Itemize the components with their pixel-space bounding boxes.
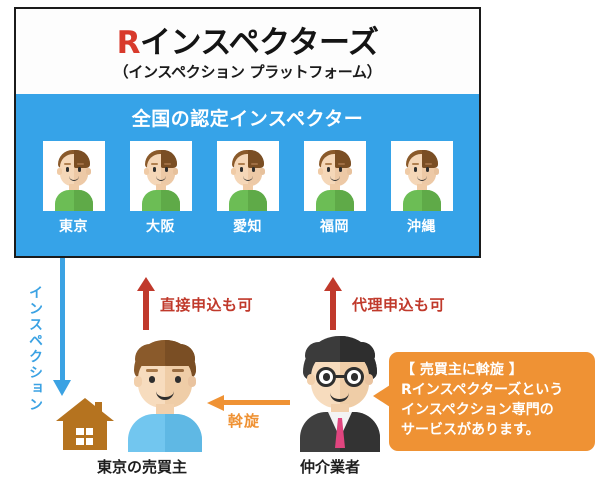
- shirt-shadow: [161, 190, 180, 211]
- inspector-list: 東京: [16, 141, 479, 236]
- shirt-shadow: [422, 190, 441, 211]
- window-mullion-horizontal: [76, 435, 93, 438]
- eye-left-icon: [414, 167, 418, 172]
- shirt-shadow: [165, 414, 202, 452]
- callout-line-3: インスペクション専門の: [401, 401, 585, 421]
- hair-shadow: [248, 150, 264, 168]
- buyer-caption: 東京の売買主: [97, 456, 187, 477]
- direct-apply-arrow-shaft: [143, 290, 149, 330]
- proxy-apply-arrow-shaft: [330, 290, 336, 330]
- eye-right-icon: [252, 167, 256, 172]
- inspector-avatar: [304, 141, 366, 211]
- inspector-label: 福岡: [320, 216, 349, 236]
- ear-left-icon: [318, 168, 323, 175]
- inspector-label: 沖縄: [407, 216, 436, 236]
- eyebrow-right-icon: [251, 163, 258, 165]
- eye-left-icon: [240, 167, 244, 172]
- inspector-avatar: [217, 141, 279, 211]
- inspection-arrow-shaft: [60, 258, 65, 386]
- proxy-apply-arrow-head: [324, 277, 342, 291]
- eyebrow-left-icon: [412, 163, 419, 165]
- brand-subtitle: （インスペクション プラットフォーム）: [16, 61, 479, 82]
- eye-left-icon: [327, 167, 331, 172]
- shirt-shadow: [248, 190, 267, 211]
- eyebrow-right-icon: [425, 163, 432, 165]
- callout-line-4: サービスがあります。: [401, 421, 585, 441]
- agent-caption: 仲介業者: [300, 456, 360, 477]
- callout-tail: [373, 385, 390, 407]
- shirt-shadow: [335, 190, 354, 211]
- ear-right-icon: [260, 168, 265, 175]
- eyebrow-left-icon: [325, 163, 332, 165]
- inspector-avatar: [43, 141, 105, 211]
- mediation-arrow-shaft: [224, 400, 290, 405]
- eye-left-icon: [66, 167, 70, 172]
- callout-line-1: 【 売買主に斡旋 】: [401, 361, 585, 381]
- mediation-label: 斡旋: [228, 410, 260, 431]
- inspector-item-tokyo[interactable]: 東京: [38, 141, 110, 236]
- eye-left-icon: [153, 167, 157, 172]
- eyebrow-left-icon: [146, 369, 158, 372]
- eye-right-icon: [165, 167, 169, 172]
- eye-right-icon: [339, 167, 343, 172]
- inspector-banner: 全国の認定インスペクター: [16, 94, 479, 256]
- hair-shadow: [335, 150, 351, 168]
- eyebrow-left-icon: [64, 163, 71, 165]
- ear-right-icon: [365, 374, 373, 385]
- eye-left-icon: [323, 373, 330, 381]
- ear-right-icon: [86, 168, 91, 175]
- ear-right-icon: [347, 168, 352, 175]
- ear-right-icon: [173, 168, 178, 175]
- panel-header: Rインスペクターズ （インスペクション プラットフォーム）: [16, 9, 479, 94]
- brand-rest: インスペクターズ: [140, 25, 378, 61]
- eye-right-icon: [78, 167, 82, 172]
- inspector-avatar: [391, 141, 453, 211]
- direct-apply-arrow-head: [137, 277, 155, 291]
- inspector-label: 愛知: [233, 216, 262, 236]
- brand-initial: R: [117, 25, 140, 61]
- eye-right-icon: [175, 376, 181, 383]
- eye-left-icon: [149, 376, 155, 383]
- brand-title: Rインスペクターズ: [16, 17, 479, 62]
- banner-title: 全国の認定インスペクター: [16, 104, 479, 131]
- platform-panel: Rインスペクターズ （インスペクション プラットフォーム） 全国の認定インスペク…: [14, 7, 481, 258]
- eyebrow-right-icon: [77, 163, 84, 165]
- eyebrow-left-icon: [151, 163, 158, 165]
- house-icon: [56, 398, 114, 450]
- inspection-arrow-head: [53, 380, 71, 396]
- inspector-item-okinawa[interactable]: 沖縄: [386, 141, 458, 236]
- fringe-shadow: [340, 342, 375, 362]
- eyebrow-right-icon: [172, 369, 184, 372]
- shirt-shadow: [74, 190, 93, 211]
- eye-right-icon: [351, 373, 358, 381]
- inspector-item-osaka[interactable]: 大阪: [125, 141, 197, 236]
- ear-left-icon: [405, 168, 410, 175]
- ear-left-icon: [307, 374, 315, 385]
- eyebrow-left-icon: [238, 163, 245, 165]
- agent-speech-callout: 【 売買主に斡旋 】 Rインスペクターズという インスペクション専門の サービス…: [389, 352, 595, 451]
- hair-shadow: [161, 150, 177, 168]
- inspector-label: 大阪: [146, 216, 175, 236]
- ear-right-icon: [434, 168, 439, 175]
- fringe-shadow: [165, 344, 195, 366]
- proxy-apply-label: 代理申込も可: [352, 294, 445, 315]
- ear-left-icon: [231, 168, 236, 175]
- diagram-canvas: Rインスペクターズ （インスペクション プラットフォーム） 全国の認定インスペク…: [0, 0, 604, 482]
- glasses-bridge-icon: [335, 375, 345, 378]
- eyebrow-right-icon: [164, 163, 171, 165]
- inspection-flow-label: インスペクション: [25, 285, 45, 413]
- ear-left-icon: [134, 376, 142, 387]
- hair-shadow: [422, 150, 438, 168]
- inspector-item-fukuoka[interactable]: 福岡: [299, 141, 371, 236]
- roof-icon: [56, 398, 114, 421]
- ear-right-icon: [188, 376, 196, 387]
- buyer-avatar: [118, 340, 212, 452]
- eyebrow-right-icon: [338, 163, 345, 165]
- direct-apply-label: 直接申込も可: [160, 294, 253, 315]
- inspector-label: 東京: [59, 216, 88, 236]
- ear-left-icon: [57, 168, 62, 175]
- callout-line-2: Rインスペクターズという: [401, 381, 585, 401]
- hair-shadow: [74, 150, 90, 168]
- ear-left-icon: [144, 168, 149, 175]
- inspector-item-aichi[interactable]: 愛知: [212, 141, 284, 236]
- eye-right-icon: [426, 167, 430, 172]
- inspector-avatar: [130, 141, 192, 211]
